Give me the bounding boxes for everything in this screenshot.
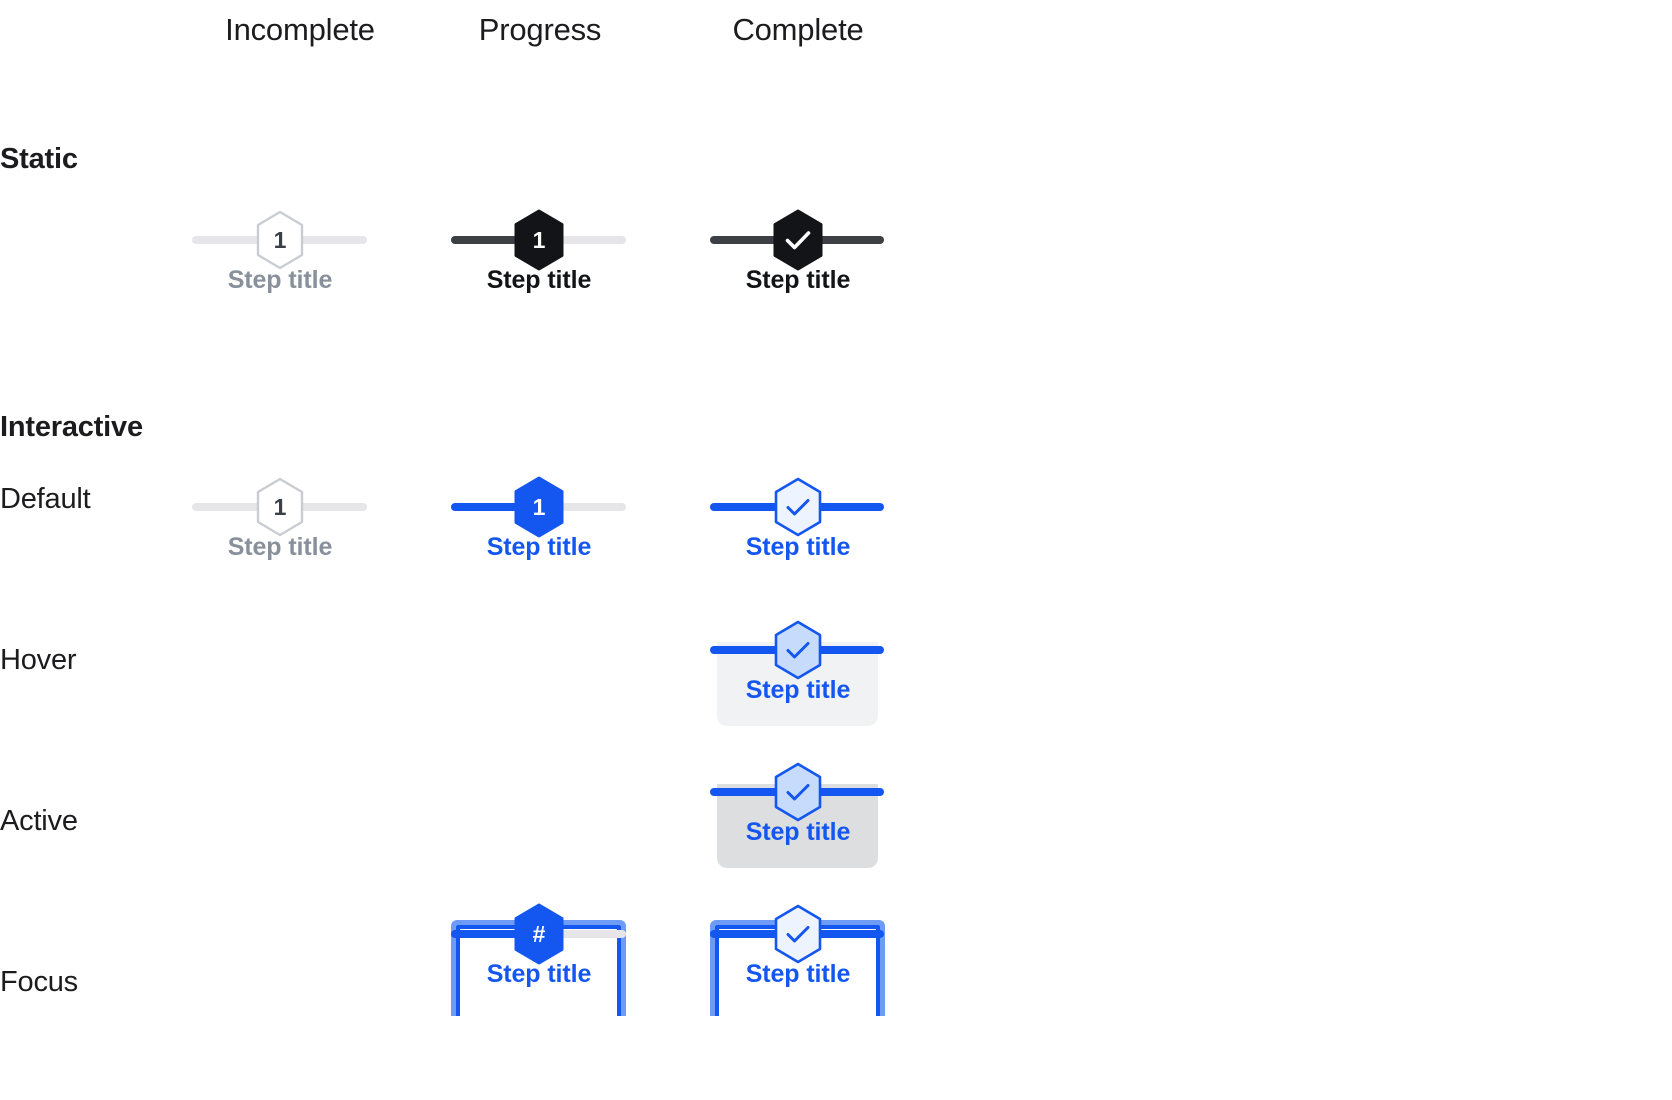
step-marker-complete[interactable] (770, 619, 826, 681)
hexagon-icon (511, 209, 567, 271)
stepper-specimen-sheet: Incomplete Progress Complete Static Inte… (0, 0, 1672, 1100)
row-label-active: Active (0, 805, 78, 838)
step-marker-complete[interactable] (770, 761, 826, 823)
hexagon-icon (770, 619, 826, 681)
step-marker-complete (770, 209, 826, 271)
stepper-focus-progress[interactable]: # Step title (429, 890, 649, 1010)
hexagon-icon (511, 903, 567, 965)
column-header-incomplete: Incomplete (190, 12, 410, 48)
hexagon-icon (770, 209, 826, 271)
section-heading-static: Static (0, 143, 78, 176)
stepper-hover-complete[interactable]: Step title (688, 606, 908, 726)
step-marker-complete[interactable] (770, 476, 826, 538)
hexagon-icon (511, 476, 567, 538)
row-label-focus: Focus (0, 966, 78, 999)
step-marker-incomplete: 1 (252, 209, 308, 271)
stepper-default-progress[interactable]: 1 Step title (429, 463, 649, 583)
row-label-hover: Hover (0, 644, 76, 677)
stepper-focus-complete[interactable]: Step title (688, 890, 908, 1010)
stepper-static-incomplete: 1 Step title (170, 196, 390, 316)
hexagon-icon (770, 761, 826, 823)
column-header-progress: Progress (430, 12, 650, 48)
step-marker-incomplete[interactable]: 1 (252, 476, 308, 538)
row-label-default: Default (0, 483, 91, 516)
hexagon-icon (770, 903, 826, 965)
stepper-default-incomplete[interactable]: 1 Step title (170, 463, 390, 583)
stepper-static-progress: 1 Step title (429, 196, 649, 316)
hexagon-icon (252, 476, 308, 538)
stepper-default-complete[interactable]: Step title (688, 463, 908, 583)
hexagon-icon (252, 209, 308, 271)
stepper-active-complete[interactable]: Step title (688, 748, 908, 868)
step-marker-progress: 1 (511, 209, 567, 271)
column-header-complete: Complete (688, 12, 908, 48)
step-marker-progress[interactable]: # (511, 903, 567, 965)
step-marker-progress[interactable]: 1 (511, 476, 567, 538)
step-marker-complete[interactable] (770, 903, 826, 965)
stepper-static-complete: Step title (688, 196, 908, 316)
section-heading-interactive: Interactive (0, 411, 143, 444)
hexagon-icon (770, 476, 826, 538)
